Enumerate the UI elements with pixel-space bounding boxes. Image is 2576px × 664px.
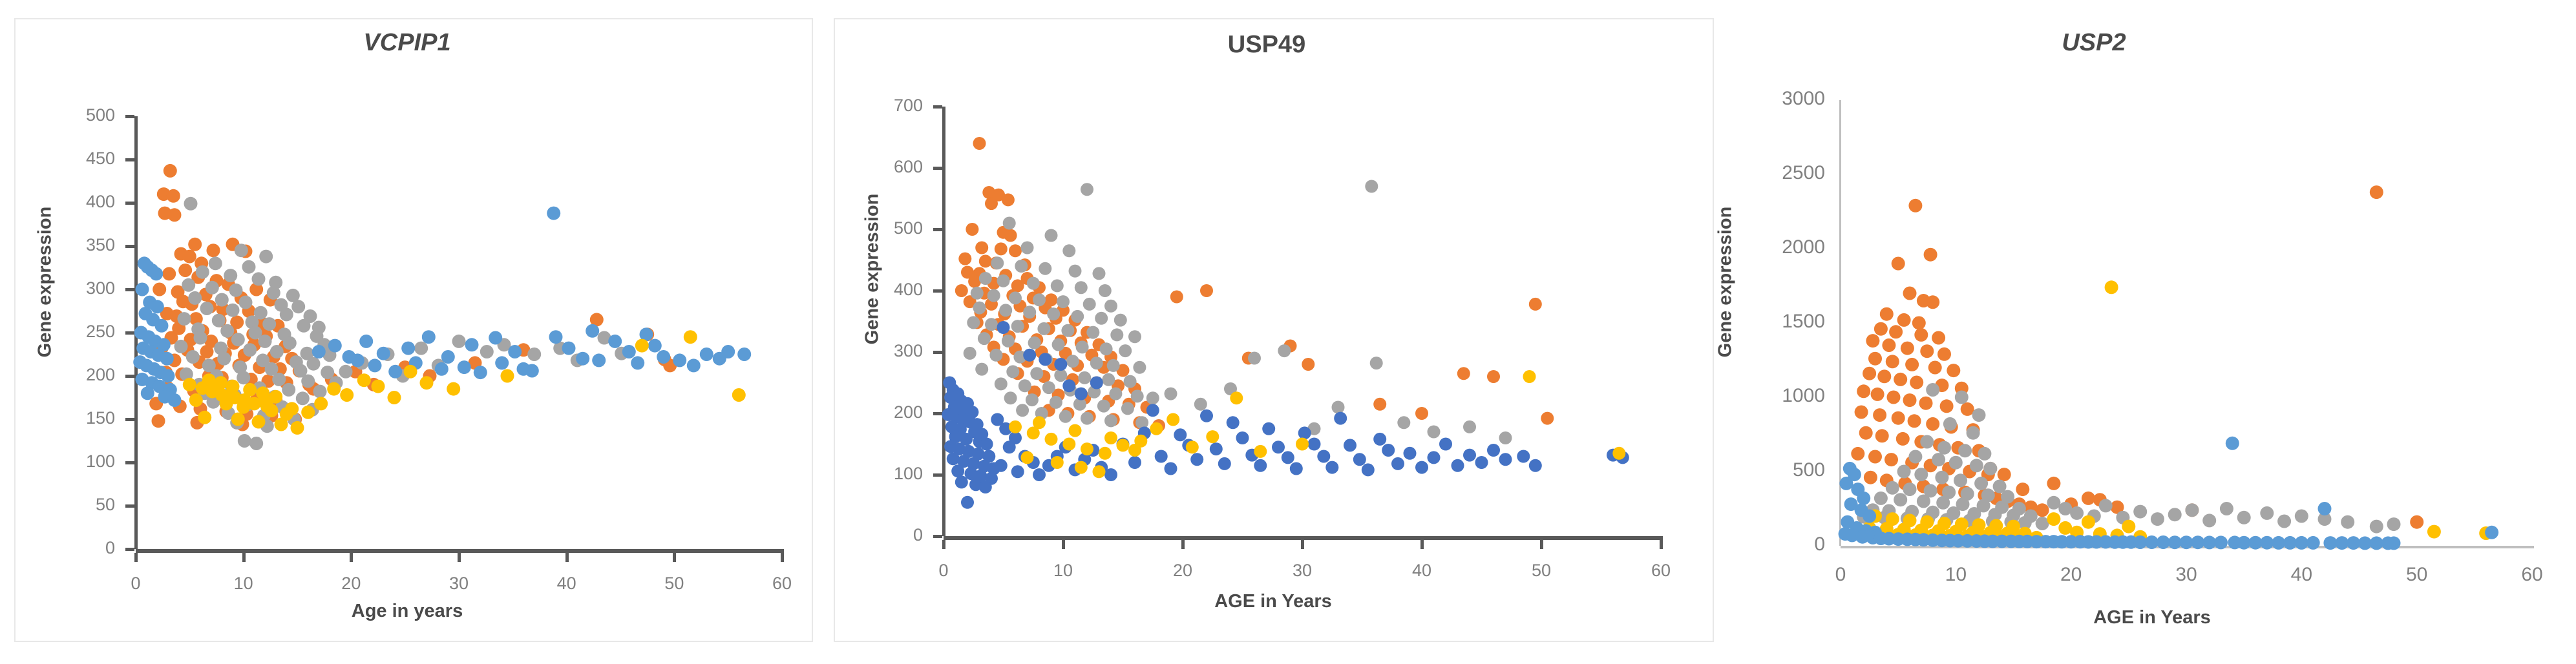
scatter-point [327,382,341,396]
scatter-point [1011,465,1024,478]
scatter-point [1415,461,1428,474]
scatter-point [995,242,1008,255]
scatter-point [1026,393,1039,406]
scatter-point [149,267,163,280]
scatter-point [985,197,998,210]
scatter-point [2082,515,2095,529]
scatter-point [2427,525,2441,539]
scatter-point [414,342,428,355]
scatter-point [422,330,436,344]
scatter-point [321,366,334,379]
scatter-point [1128,330,1141,343]
scatter-point [1874,492,1888,505]
scatter-point [732,388,746,402]
scatter-point [194,331,207,345]
y-tick-label: 0 [1735,534,1825,555]
scatter-point [1100,342,1113,355]
scatter-point [1937,348,1951,361]
scatter-point [1124,375,1137,388]
scatter-point [178,312,191,326]
scatter-point [1131,389,1144,402]
scatter-point [174,340,188,353]
scatter-point [388,391,401,404]
scatter-point [1839,477,1853,490]
scatter-point [368,358,382,372]
scatter-point [229,284,243,297]
scatter-point [1119,344,1132,357]
scatter-point [958,253,971,265]
scatter-point [1404,447,1417,460]
scatter-point [1914,328,1928,342]
scatter-point [1353,453,1366,466]
scatter-point [1227,416,1240,429]
scatter-point [340,388,354,402]
scatter-point [259,395,272,409]
scatter-point [1940,399,1954,413]
scatter-point [1863,367,1876,380]
y-tick-label: 500 [1735,459,1825,481]
y-tick-label: 1000 [1735,385,1825,407]
scatter-point [955,284,968,297]
y-tick-label: 400 [832,280,923,300]
scatter-point [1194,398,1207,411]
y-tick-mark [933,289,942,293]
y-tick-label: 3000 [1735,88,1825,110]
scatter-point [1362,463,1375,476]
scatter-point [178,264,192,277]
scatter-point [1523,370,1536,383]
x-tick-label: 50 [635,574,713,594]
scatter-point [237,400,250,414]
scatter-point [1133,361,1146,374]
scatter-point [1897,465,1911,479]
scatter-point [2047,477,2060,490]
scatter-point [1071,310,1084,323]
scatter-point [2220,502,2233,515]
scatter-point [1894,493,1907,506]
scatter-point [1859,426,1873,440]
y-tick-label: 700 [832,96,923,116]
scatter-point [2295,536,2308,550]
scatter-point [452,335,466,348]
scatter-point [1021,242,1034,254]
scatter-point [989,349,1002,362]
scatter-point [1093,465,1106,478]
scatter-point [2410,515,2423,529]
scatter-point [2387,536,2401,550]
scatter-point [975,242,988,254]
scatter-point [967,316,980,329]
scatter-point [1529,298,1542,311]
scatter-point [966,223,978,236]
scatter-point [1908,199,1922,213]
scatter-point [1045,229,1058,242]
scatter-point [1150,422,1163,435]
scatter-point [1452,459,1464,472]
scatter-point [1104,468,1117,481]
scatter-point [1102,373,1115,386]
scatter-point [1332,401,1345,414]
scatter-point [1499,453,1512,466]
scatter-point [226,304,240,317]
y-tick-mark [125,245,134,248]
scatter-point [239,296,253,309]
y-tick-label: 100 [25,451,115,472]
scatter-point [1003,441,1016,453]
scatter-point [1439,438,1452,451]
scatter-point [1612,447,1625,460]
scatter-point [527,348,541,361]
scatter-point [275,418,288,431]
scatter-point [141,386,154,400]
scatter-point [1254,445,1267,458]
scatter-point [1926,417,1939,431]
scatter-point [1002,193,1015,206]
x-tick-label: 60 [743,574,821,594]
scatter-point [673,353,686,367]
scatter-point [549,330,563,344]
scatter-point [388,365,402,379]
scatter-point [1230,391,1243,404]
scatter-point [997,321,1010,334]
scatter-point [186,350,200,364]
scatter-point [1039,353,1051,366]
scatter-point [1334,412,1347,425]
scatter-point [196,265,209,279]
scatter-point [420,376,434,389]
scatter-point [160,352,174,366]
scatter-point [1062,244,1075,257]
scatter-point [1002,335,1015,348]
scatter-point [1023,349,1036,362]
scatter-point [1206,430,1219,443]
scatter-point [1880,307,1894,321]
scatter-point [168,208,182,222]
scatter-point [1882,338,1895,352]
scatter-point [1081,183,1093,196]
scatter-point [1887,391,1901,404]
scatter-point [1325,461,1338,474]
scatter-point [1487,370,1500,383]
plot-area-2: 01002003004005006007000102030405060 [944,107,1661,536]
y-tick-mark [125,158,134,161]
scatter-point [1308,438,1321,451]
y-tick-label: 1500 [1735,311,1825,333]
scatter-point [1062,379,1075,392]
scatter-point [2370,185,2383,199]
y-tick-label: 350 [25,235,115,255]
scatter-point [1855,406,1868,419]
scatter-point [1104,431,1117,444]
x-tick-label: 10 [1024,561,1102,581]
scatter-point [1919,397,1933,410]
scatter-point [2133,505,2147,519]
scatter-point [296,391,310,405]
scatter-point [1174,428,1187,441]
y-tick-mark [933,473,942,477]
scatter-point [1903,393,1917,407]
scatter-point [2485,526,2498,539]
y-tick-label: 600 [832,157,923,177]
figure-root: VCPIP1 Gene expression Age in years 0501… [0,0,2576,664]
scatter-point [252,415,266,429]
scatter-point [2323,536,2337,550]
scatter-point [2358,536,2372,550]
scatter-point [1936,496,1950,510]
scatter-point [1023,306,1036,318]
scatter-point [1069,265,1082,278]
scatter-point [212,314,226,327]
scatter-point [951,464,964,477]
scatter-point [1059,410,1072,423]
scatter-point [2277,515,2291,528]
scatter-point [979,254,992,267]
scatter-point [262,317,276,331]
scatter-point [489,331,502,345]
scatter-point [136,283,149,296]
scatter-point [635,339,649,353]
scatter-point [1033,468,1046,481]
scatter-point [162,267,176,280]
scatter-point [1054,358,1067,371]
scatter-point [947,452,960,465]
scatter-point [198,411,211,424]
scatter-point [164,164,177,178]
scatter-point [1884,453,1898,466]
scatter-point [1218,457,1231,470]
scatter-point [2016,482,2029,496]
scatter-point [1863,510,1876,523]
scatter-point [231,333,245,346]
scatter-point [1428,426,1441,439]
scatter-point [1009,244,1022,257]
scatter-point [2214,535,2228,549]
scatter-point [1200,284,1213,297]
x-tick-label: 0 [1802,564,1879,586]
scatter-point [474,366,487,379]
scatter-point [207,244,220,257]
scatter-point [1871,388,1884,401]
scatter-point [359,335,373,348]
scatter-point [153,283,166,296]
scatter-point [1463,449,1476,462]
scatter-point [1415,407,1428,420]
scatter-point [1210,442,1223,455]
scatter-point [1920,344,1934,358]
y-tick-mark [933,351,942,354]
scatter-point [1090,357,1103,369]
chart-title-1: VCPIP1 [271,29,543,57]
scatter-point [458,360,471,374]
y-tick-label: 500 [832,218,923,238]
y-tick-mark [933,535,942,538]
scatter-point [1028,337,1041,349]
scatter-point [1529,459,1542,472]
scatter-point [1262,422,1275,435]
scatter-point [282,383,295,397]
scatter-point [684,330,697,344]
scatter-point [1011,320,1024,333]
scatter-point [1428,451,1441,464]
scatter-point [1373,398,1386,411]
scatter-point [547,207,560,220]
scatter-point [1928,361,1942,375]
y-tick-mark [125,202,134,205]
scatter-point [209,256,222,270]
scatter-point [1045,433,1058,446]
scatter-point [351,353,364,367]
scatter-point [480,345,494,358]
scatter-point [2047,512,2060,526]
y-tick-label: 300 [832,341,923,361]
y-tick-mark [933,167,942,170]
scatter-point [1006,365,1019,378]
scatter-point [1873,408,1886,422]
scatter-point [1875,429,1889,442]
scatter-point [1970,459,1983,472]
scatter-point [2237,511,2251,524]
x-tick-label: 0 [905,561,982,581]
scatter-point [955,475,968,488]
scatter-point [2295,510,2308,523]
scatter-point [1382,444,1395,457]
scatter-point [1165,462,1177,475]
scatter-point [1033,416,1046,429]
scatter-point [447,382,460,396]
scatter-point [313,385,327,399]
scatter-markers [944,107,1687,549]
scatter-point [501,369,514,383]
scatter-point [1190,453,1203,466]
scatter-point [2047,496,2060,510]
scatter-point [687,358,701,372]
y-tick-mark [933,105,942,109]
y-tick-label: 150 [25,408,115,428]
scatter-point [1004,391,1017,404]
scatter-point [1499,431,1512,444]
scatter-point [465,338,479,351]
scatter-point [252,272,266,285]
y-tick-mark [125,331,134,335]
scatter-point [1052,338,1065,351]
scatter-point [242,260,256,274]
scatter-point [404,365,417,379]
scatter-point [1003,217,1016,230]
scatter-point [1958,444,1972,457]
scatter-point [217,352,231,366]
scatter-point [243,343,257,357]
scatter-point [372,380,385,393]
scatter-point [1905,358,1919,371]
scatter-point [1302,358,1314,371]
y-tick-label: 450 [25,149,115,169]
scatter-point [648,339,662,353]
y-tick-label: 0 [25,538,115,558]
scatter-point [2191,535,2204,549]
x-axis-label-1: Age in years [246,601,569,622]
scatter-point [401,342,415,355]
scatter-point [1016,404,1029,417]
x-tick-label: 50 [2378,564,2456,586]
scatter-point [1097,400,1110,413]
scatter-point [220,324,234,338]
scatter-point [1047,307,1060,320]
scatter-point [2151,512,2164,526]
x-tick-label: 30 [420,574,498,594]
scatter-point [167,189,180,203]
scatter-point [508,345,522,358]
scatter-point [1039,262,1051,275]
scatter-point [1009,291,1022,304]
y-tick-label: 2500 [1735,162,1825,184]
scatter-point [2105,280,2118,294]
scatter-point [1864,471,1877,484]
scatter-point [562,342,576,355]
scatter-point [1146,391,1159,404]
scatter-point [997,275,1010,287]
scatter-point [1155,450,1168,463]
scatter-point [2260,536,2274,550]
scatter-point [975,363,988,376]
scatter-point [1517,450,1530,463]
scatter-point [1908,450,1922,464]
scatter-point [2185,503,2199,517]
scatter-point [224,388,237,402]
scatter-point [1463,420,1476,433]
scatter-point [1917,495,1930,508]
scatter-point [312,345,326,358]
scatter-point [1924,248,1937,262]
scatter-point [297,319,311,333]
scatter-point [1397,416,1410,429]
scatter-point [971,287,984,300]
y-tick-label: 300 [25,278,115,298]
x-tick-label: 20 [2032,564,2110,586]
scatter-point [995,377,1008,390]
scatter-point [259,250,273,264]
scatter-point [1868,450,1882,464]
scatter-point [1117,439,1130,451]
scatter-point [2341,515,2354,529]
y-tick-label: 100 [832,464,923,484]
scatter-markers [136,116,808,562]
scatter-point [1078,371,1091,384]
scatter-point [1254,459,1267,472]
scatter-point [1370,357,1383,369]
scatter-point [1009,420,1022,433]
scatter-point [291,300,305,313]
scatter-point [237,371,250,384]
x-tick-label: 60 [1622,561,1700,581]
x-axis-label-3: AGE in Years [1990,607,2314,628]
y-tick-mark [125,548,134,551]
scatter-point [1272,441,1285,453]
scatter-point [1978,447,1991,461]
scatter-point [1027,277,1040,290]
scatter-point [592,353,606,367]
scatter-point [1167,413,1179,426]
scatter-point [1282,451,1294,464]
scatter-point [1061,324,1074,337]
scatter-point [1090,377,1103,389]
x-tick-label: 20 [1144,561,1221,581]
y-tick-mark [933,228,942,231]
scatter-point [980,438,993,451]
scatter-point [184,197,198,211]
scatter-point [1099,284,1112,297]
scatter-point [189,393,203,407]
scatter-point [1908,414,1921,428]
